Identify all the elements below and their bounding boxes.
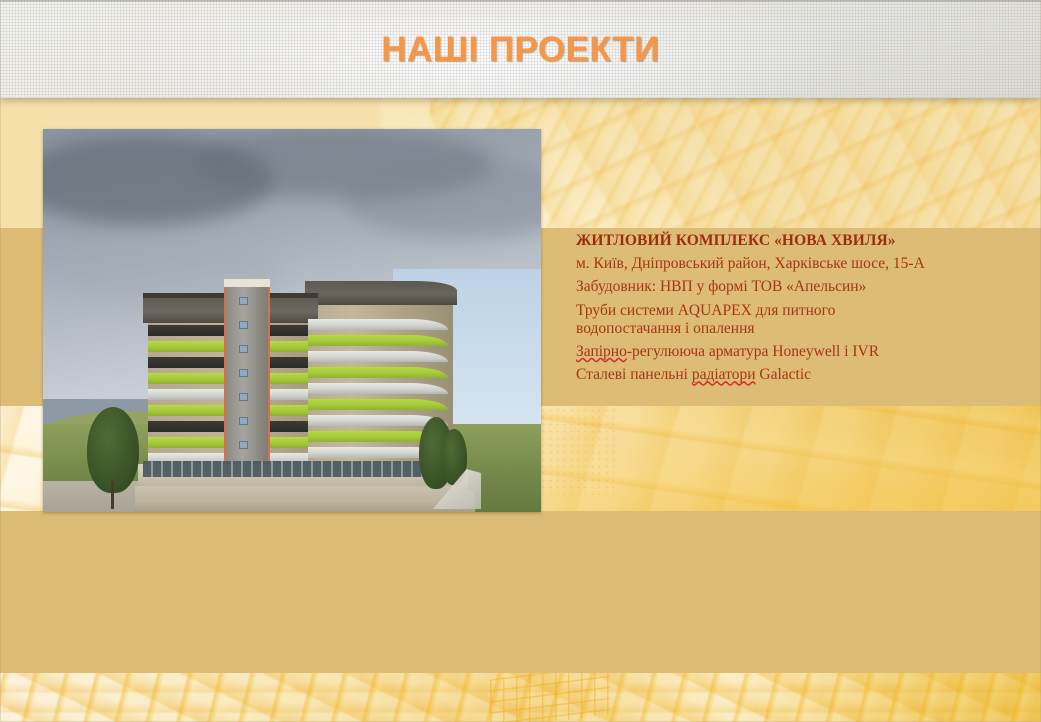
podium-glazing <box>143 461 461 477</box>
page-title: НАШІ ПРОЕКТИ <box>0 30 1041 70</box>
window <box>239 297 248 305</box>
window <box>239 321 248 329</box>
stairwell-roof <box>224 279 270 287</box>
window <box>239 369 248 377</box>
project-info-block: ЖИТЛОВИЙ КОМПЛЕКС «НОВА ХВИЛЯ» м. Київ, … <box>576 232 1006 390</box>
content-mat-lower <box>0 511 1041 673</box>
project-pipes: Труби системи AQUAPEX для питного водопо… <box>576 302 916 339</box>
presentation-slide: НАШІ ПРОЕКТИ <box>0 0 1041 722</box>
spellcheck-word: радіатори <box>692 366 756 383</box>
balcony-band <box>308 383 448 394</box>
podium-base <box>135 486 475 512</box>
project-render-image <box>43 129 541 512</box>
tree-trunk <box>111 481 114 509</box>
balcony-band <box>308 367 448 378</box>
building-roof-right <box>305 281 457 305</box>
balcony-band <box>308 335 448 346</box>
balcony-band <box>308 351 448 362</box>
window <box>239 417 248 425</box>
window <box>239 441 248 449</box>
window <box>239 393 248 401</box>
project-valves: Запірно-регулююча арматура Honeywell і I… <box>576 343 1006 361</box>
header-top-rule <box>0 0 1041 2</box>
project-radiators-suffix: Galactic <box>756 366 812 383</box>
balcony-band <box>308 319 448 330</box>
project-heading: ЖИТЛОВИЙ КОМПЛЕКС «НОВА ХВИЛЯ» <box>576 232 1006 250</box>
window <box>239 345 248 353</box>
project-radiators-prefix: Сталеві панельні <box>576 366 692 383</box>
project-radiators: Сталеві панельні радіатори Galactic <box>576 366 1006 384</box>
project-address: м. Київ, Дніпровський район, Харківське … <box>576 255 1006 273</box>
project-developer: Забудовник: НВП у формі ТОВ «Апельсин» <box>576 278 1006 296</box>
project-valves-rest: -регулююча арматура Honeywell і IVR <box>627 343 879 360</box>
balcony-band <box>308 399 448 410</box>
spellcheck-word: Запірно <box>576 343 627 360</box>
